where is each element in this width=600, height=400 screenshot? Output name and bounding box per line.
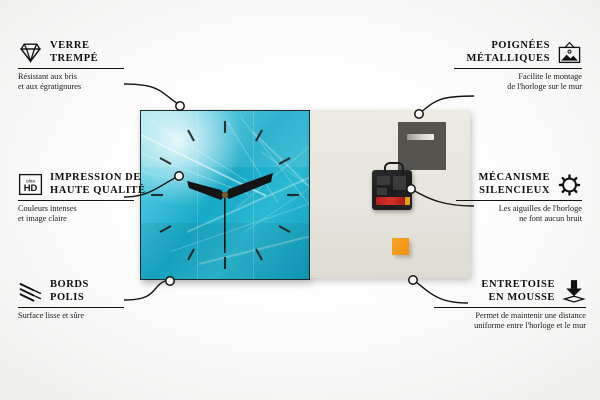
feature-header: BORDS POLIS xyxy=(18,279,168,304)
foam-spacer-icon xyxy=(562,279,586,304)
feature-entretoise-en-mousse: ENTRETOISE EN MOUSSE Permet de maintenir… xyxy=(412,279,586,331)
feature-title-line1: ENTRETOISE xyxy=(481,279,555,292)
feature-subtitle: Les aiguilles de l'horloge ne font aucun… xyxy=(428,204,582,224)
feature-title: MÉCANISME SILENCIEUX xyxy=(479,172,550,197)
feature-subtitle-line1: Permet de maintenir une distance xyxy=(412,311,586,321)
feature-title-line2: TREMPÉ xyxy=(50,53,98,66)
feature-header: ENTRETOISE EN MOUSSE xyxy=(412,279,586,304)
feature-subtitle: Surface lisse et sûre xyxy=(18,311,168,321)
feature-verre-trempe: VERRE TREMPÉ Résistant aux bris et aux é… xyxy=(18,40,168,92)
feature-divider xyxy=(434,307,586,308)
feature-title-line1: IMPRESSION DE xyxy=(50,172,146,185)
feature-header: POIGNÉES MÉTALLIQUES xyxy=(432,40,582,65)
feature-subtitle-line2: uniforme entre l'horloge et le mur xyxy=(412,321,586,331)
diamond-icon xyxy=(18,42,43,63)
feature-title-line1: MÉCANISME xyxy=(479,172,550,185)
feature-mecanisme-silencieux: MÉCANISME SILENCIEUX xyxy=(428,172,582,224)
feature-title: BORDS POLIS xyxy=(50,279,89,304)
feature-poignees-metalliques: POIGNÉES MÉTALLIQUES Facilite le montage… xyxy=(432,40,582,92)
feature-header: ultra HD IMPRESSION DE HAUTE QUALITÉ xyxy=(18,172,178,197)
feature-title-line2: HAUTE QUALITÉ xyxy=(50,185,146,198)
feature-subtitle-line1: Surface lisse et sûre xyxy=(18,311,168,321)
feature-subtitle-line1: Résistant aux bris xyxy=(18,72,168,82)
feature-divider xyxy=(18,200,134,201)
feature-subtitle-line1: Couleurs intenses xyxy=(18,204,178,214)
feature-impression-haute-qualite: ultra HD IMPRESSION DE HAUTE QUALITÉ Cou… xyxy=(18,172,178,224)
feature-divider xyxy=(18,307,124,308)
feature-subtitle: Couleurs intenses et image claire xyxy=(18,204,178,224)
feature-divider xyxy=(18,68,124,69)
feature-subtitle: Facilite le montage de l'horloge sur le … xyxy=(432,72,582,92)
feature-title: VERRE TREMPÉ xyxy=(50,40,98,65)
feature-title: POIGNÉES MÉTALLIQUES xyxy=(467,40,550,65)
feature-title-line2: POLIS xyxy=(50,292,89,305)
ultra-hd-badge-icon: ultra HD xyxy=(18,173,43,196)
feature-subtitle: Résistant aux bris et aux égratignures xyxy=(18,72,168,92)
infographic-canvas: VERRE TREMPÉ Résistant aux bris et aux é… xyxy=(0,0,600,400)
feature-title: ENTRETOISE EN MOUSSE xyxy=(481,279,555,304)
feature-divider xyxy=(454,68,582,69)
connector-dot xyxy=(407,185,415,193)
feature-subtitle: Permet de maintenir une distance uniform… xyxy=(412,311,586,331)
feature-subtitle-line2: de l'horloge sur le mur xyxy=(432,82,582,92)
feature-divider xyxy=(456,200,582,201)
connector-dot xyxy=(176,102,184,110)
feature-header: VERRE TREMPÉ xyxy=(18,40,168,65)
feature-title-line1: POIGNÉES xyxy=(467,40,550,53)
feature-title-line2: EN MOUSSE xyxy=(481,292,555,305)
wall-hanger-icon xyxy=(557,41,582,64)
gear-icon xyxy=(557,173,582,197)
feature-title-line1: BORDS xyxy=(50,279,89,292)
polished-edges-icon xyxy=(18,281,43,302)
feature-bords-polis: BORDS POLIS Surface lisse et sûre xyxy=(18,279,168,321)
feature-title-line1: VERRE xyxy=(50,40,98,53)
feature-subtitle-line2: et aux égratignures xyxy=(18,82,168,92)
svg-text:HD: HD xyxy=(24,182,38,193)
feature-title-line2: SILENCIEUX xyxy=(479,185,550,198)
feature-subtitle-line2: ne font aucun bruit xyxy=(428,214,582,224)
feature-subtitle-line2: et image claire xyxy=(18,214,178,224)
feature-subtitle-line1: Les aiguilles de l'horloge xyxy=(428,204,582,214)
feature-title-line2: MÉTALLIQUES xyxy=(467,53,550,66)
feature-title: IMPRESSION DE HAUTE QUALITÉ xyxy=(50,172,146,197)
feature-header: MÉCANISME SILENCIEUX xyxy=(428,172,582,197)
connector-dot xyxy=(415,110,423,118)
feature-subtitle-line1: Facilite le montage xyxy=(432,72,582,82)
